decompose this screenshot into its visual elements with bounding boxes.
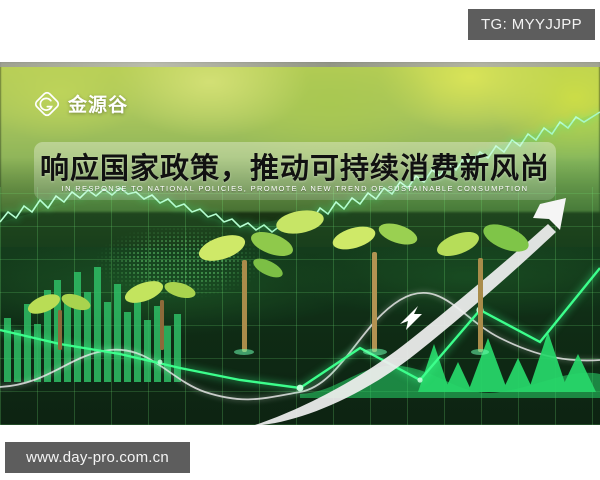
site-watermark: www.day-pro.com.cn	[5, 442, 190, 473]
tg-badge: TG: MYYJJPP	[468, 9, 595, 40]
brand-name: 金源谷	[68, 90, 128, 117]
image-top-edge	[0, 62, 600, 67]
banner-image: 响应国家政策，推动可持续消费新风尚 IN RESPONSE TO NATIONA…	[0, 62, 600, 425]
diamond-g-logo-icon	[34, 91, 60, 117]
brand-logo: 金源谷	[34, 90, 128, 117]
banner-page: TG: MYYJJPP	[0, 0, 600, 480]
page-subtitle: IN RESPONSE TO NATIONAL POLICIES, PROMOT…	[34, 180, 556, 196]
